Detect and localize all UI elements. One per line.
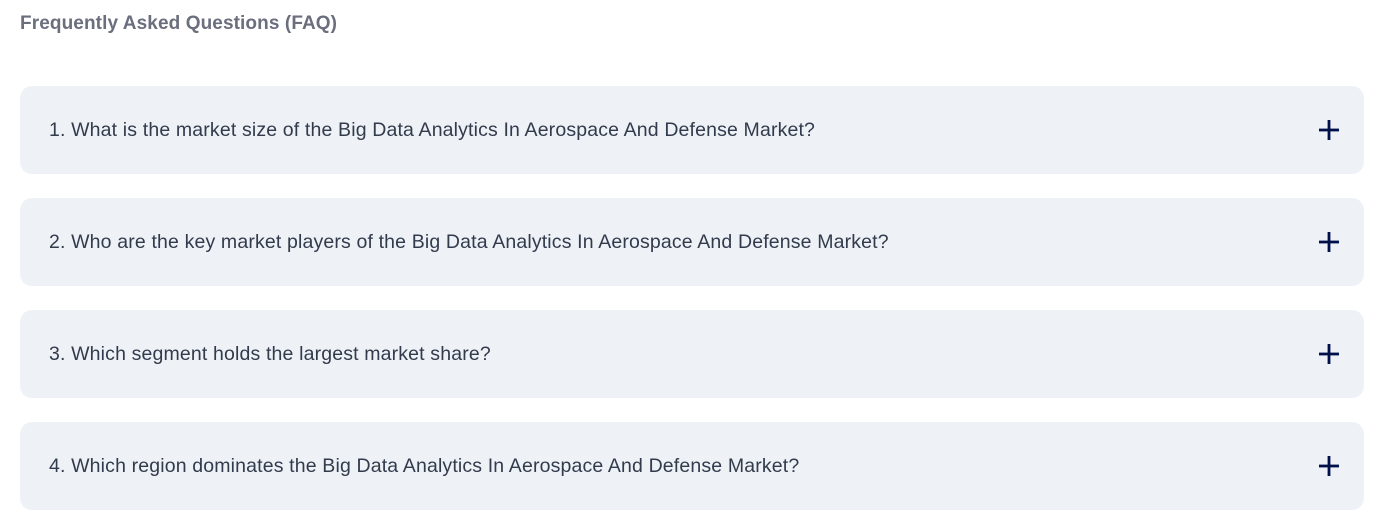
plus-icon	[1318, 231, 1340, 253]
faq-expand-button-4[interactable]	[1314, 451, 1344, 481]
plus-icon	[1318, 455, 1340, 477]
faq-item-3[interactable]: 3. Which segment holds the largest marke…	[20, 310, 1364, 398]
faq-expand-button-3[interactable]	[1314, 339, 1344, 369]
faq-question-2: 2. Who are the key market players of the…	[20, 229, 969, 255]
faq-section: Frequently Asked Questions (FAQ) 1. What…	[0, 0, 1381, 529]
page-title: Frequently Asked Questions (FAQ)	[20, 10, 337, 38]
faq-item-2[interactable]: 2. Who are the key market players of the…	[20, 198, 1364, 286]
faq-accordion-list: 1. What is the market size of the Big Da…	[20, 86, 1364, 510]
faq-question-4: 4. Which region dominates the Big Data A…	[20, 453, 879, 479]
faq-question-1: 1. What is the market size of the Big Da…	[20, 117, 895, 143]
faq-expand-button-1[interactable]	[1314, 115, 1344, 145]
faq-item-4[interactable]: 4. Which region dominates the Big Data A…	[20, 422, 1364, 510]
plus-icon	[1318, 343, 1340, 365]
faq-expand-button-2[interactable]	[1314, 227, 1344, 257]
plus-icon	[1318, 119, 1340, 141]
faq-question-3: 3. Which segment holds the largest marke…	[20, 341, 571, 367]
faq-item-1[interactable]: 1. What is the market size of the Big Da…	[20, 86, 1364, 174]
